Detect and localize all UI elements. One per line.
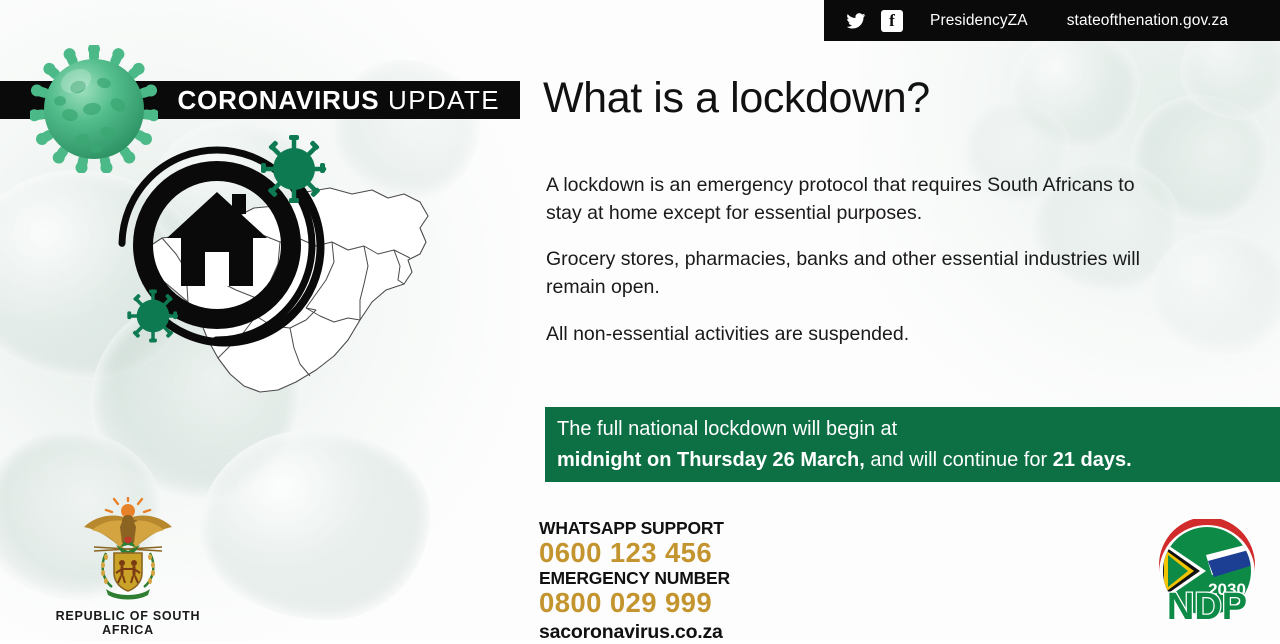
coat-of-arms-caption: REPUBLIC OF SOUTH AFRICA [28, 609, 228, 637]
whatsapp-support-label: WHATSAPP SUPPORT [539, 518, 730, 539]
notice-line-2: midnight on Thursday 26 March, and will … [557, 445, 1280, 475]
paragraph-3: All non-essential activities are suspend… [546, 321, 1158, 349]
social-topbar: f PresidencyZA stateofthenation.gov.za [824, 0, 1280, 41]
banner-label: CORONAVIRUS UPDATE [178, 85, 500, 116]
paragraph-2: Grocery stores, pharmacies, banks and ot… [546, 246, 1158, 301]
lockdown-notice-banner: The full national lockdown will begin at… [545, 407, 1280, 482]
coronavirus-particle-large [30, 45, 158, 173]
coronavirus-particle [258, 133, 330, 205]
paragraph-1: A lockdown is an emergency protocol that… [546, 172, 1158, 227]
website-url[interactable]: stateofthenation.gov.za [1067, 12, 1228, 30]
notice-date: midnight on Thursday 26 March, [557, 449, 865, 471]
emergency-number[interactable]: 0800 029 999 [539, 589, 730, 618]
notice-duration: 21 days. [1053, 449, 1132, 471]
social-handle[interactable]: PresidencyZA [930, 12, 1028, 30]
banner-word-bold: CORONAVIRUS [178, 85, 380, 115]
notice-middle: and will continue for [865, 449, 1053, 471]
south-africa-coat-of-arms [72, 497, 184, 602]
support-contact-block: WHATSAPP SUPPORT 0600 123 456 EMERGENCY … [539, 518, 730, 644]
notice-line-1: The full national lockdown will begin at [557, 414, 1280, 444]
banner-word-light: UPDATE [379, 85, 500, 115]
ndp-acronym: NDP [1167, 586, 1247, 625]
emergency-number-label: EMERGENCY NUMBER [539, 568, 730, 589]
infographic-canvas: CORONAVIRUS UPDATE [0, 0, 1280, 641]
twitter-bird-icon[interactable] [846, 11, 866, 31]
page-title: What is a lockdown? [543, 74, 1243, 123]
body-copy: A lockdown is an emergency protocol that… [546, 172, 1158, 367]
facebook-f-icon[interactable]: f [881, 10, 903, 32]
ndp-logo: 2030 NDP [1148, 519, 1266, 625]
coronavirus-particle [125, 288, 181, 344]
whatsapp-support-number[interactable]: 0600 123 456 [539, 539, 730, 568]
